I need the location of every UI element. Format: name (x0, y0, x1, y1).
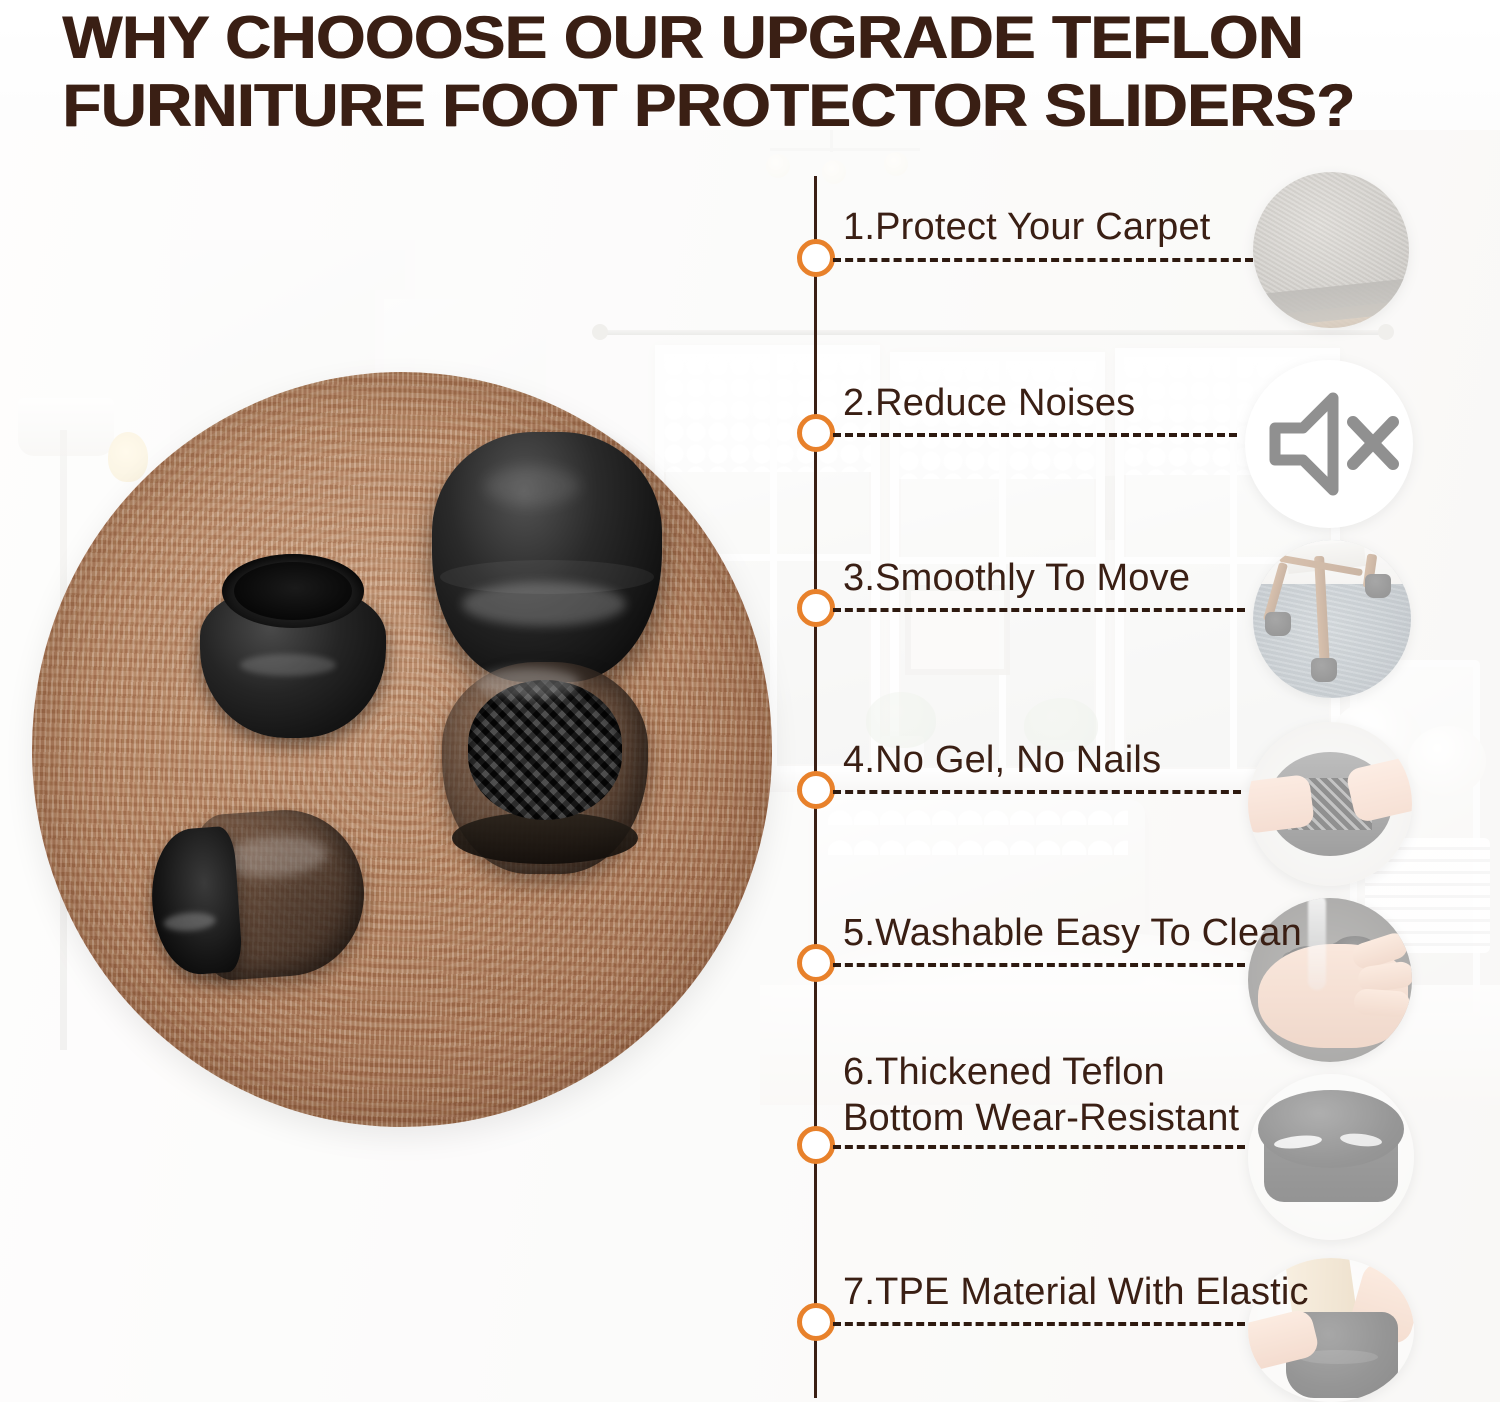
feature-label-1: 1.Protect Your Carpet (843, 204, 1211, 250)
connector-dash-4 (833, 790, 1241, 794)
feature-label-5: 5.Washable Easy To Clean (843, 910, 1302, 956)
timeline-marker-7[interactable] (797, 1303, 835, 1341)
connector-dash-2 (833, 433, 1237, 437)
feature-label-2: 2.Reduce Noises (843, 380, 1135, 426)
timeline-marker-1[interactable] (797, 239, 835, 277)
connector-dash-1 (833, 258, 1253, 262)
timeline-marker-3[interactable] (797, 589, 835, 627)
timeline-marker-4[interactable] (797, 771, 835, 809)
connector-dash-6 (833, 1145, 1245, 1149)
feature-label-3: 3.Smoothly To Move (843, 555, 1190, 601)
timeline-marker-5[interactable] (797, 944, 835, 982)
feature-label-7: 7.TPE Material With Elastic (843, 1269, 1309, 1315)
feature-label-6: 6.Thickened Teflon Bottom Wear-Resistant (843, 1049, 1239, 1141)
feature-label-4: 4.No Gel, No Nails (843, 737, 1161, 783)
timeline-marker-2[interactable] (797, 414, 835, 452)
connector-dash-3 (833, 608, 1245, 612)
feature-timeline: 1.Protect Your Carpet 2.Reduce Noises 3.… (0, 0, 1500, 1402)
connector-dash-5 (833, 963, 1245, 967)
timeline-marker-6[interactable] (797, 1126, 835, 1164)
page-title: WHY CHOOOSE OUR UPGRADE TEFLON FURNITURE… (62, 4, 1500, 140)
connector-dash-7 (833, 1322, 1245, 1326)
